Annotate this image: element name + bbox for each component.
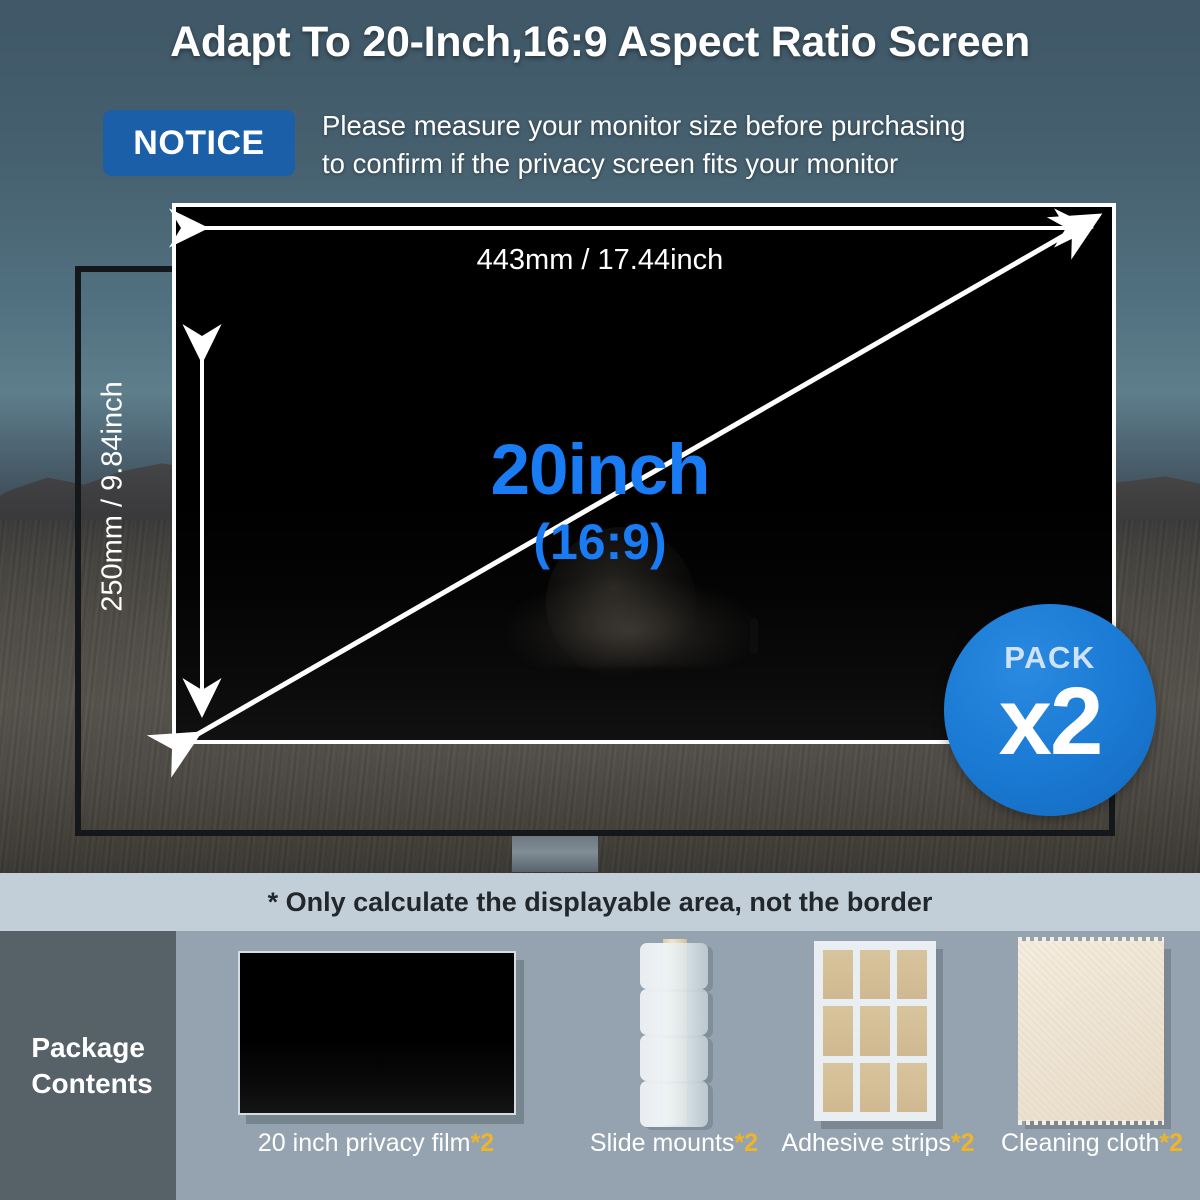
hero-section: Adapt To 20-Inch,16:9 Aspect Ratio Scree…	[0, 0, 1200, 873]
pack-badge-quantity: x2	[944, 674, 1156, 770]
slide-mount-clip	[640, 989, 708, 1035]
aspect-ratio-label: (16:9)	[0, 513, 1200, 571]
adhesive-pad	[860, 950, 890, 999]
notice-badge: NOTICE	[103, 110, 295, 176]
package-heading-line1: Package	[31, 1030, 152, 1066]
screen-person-silhouette	[750, 618, 758, 654]
package-contents-section: Package Contents 20 inch privacy film*2 …	[0, 931, 1200, 1200]
package-contents-heading-panel: Package Contents	[0, 931, 176, 1200]
footnote-text: * Only calculate the displayable area, n…	[268, 887, 933, 918]
notice-text: Please measure your monitor size before …	[322, 107, 1122, 183]
cleaning-cloth-image	[984, 931, 1200, 1131]
adhesive-pad	[897, 1006, 927, 1055]
adhesive-sheet	[814, 941, 936, 1121]
package-item-privacy-film: 20 inch privacy film*2	[176, 931, 576, 1200]
privacy-film-panel	[238, 951, 516, 1115]
adhesive-strips-image	[772, 931, 984, 1131]
package-heading-line2: Contents	[31, 1066, 152, 1102]
slide-mounts-qty: *2	[734, 1129, 758, 1157]
notice-text-line1: Please measure your monitor size before …	[322, 107, 1122, 145]
dimension-width-label: 443mm / 17.44inch	[0, 244, 1200, 277]
cleaning-cloth-swatch	[1018, 941, 1164, 1121]
adhesive-strips-qty: *2	[951, 1129, 975, 1157]
adhesive-strips-label: Adhesive strips*2	[772, 1129, 984, 1158]
screen-size-label: 20inch	[0, 430, 1200, 511]
screen-dust-cloud	[506, 577, 756, 667]
adhesive-pad	[897, 950, 927, 999]
notice-text-line2: to confirm if the privacy screen fits yo…	[322, 145, 1122, 183]
adhesive-pad	[823, 950, 853, 999]
slide-mount-clip	[640, 1035, 708, 1081]
package-item-slide-mounts: Slide mounts*2	[576, 931, 772, 1200]
footnote-strip: * Only calculate the displayable area, n…	[0, 873, 1200, 931]
slide-mount-clip	[640, 943, 708, 989]
adhesive-pad	[897, 1063, 927, 1112]
privacy-film-name: 20 inch privacy film	[258, 1129, 471, 1157]
monitor-stand-neck	[512, 836, 598, 872]
slide-mounts-name: Slide mounts	[590, 1129, 735, 1157]
cleaning-cloth-label: Cleaning cloth*2	[984, 1129, 1200, 1158]
slide-mounts-label: Slide mounts*2	[576, 1129, 772, 1158]
slide-mounts-stack	[640, 939, 708, 1125]
privacy-film-label: 20 inch privacy film*2	[176, 1129, 576, 1158]
package-item-cleaning-cloth: Cleaning cloth*2	[984, 931, 1200, 1200]
page-title: Adapt To 20-Inch,16:9 Aspect Ratio Scree…	[0, 18, 1200, 67]
adhesive-pad	[860, 1063, 890, 1112]
notice-badge-label: NOTICE	[133, 124, 264, 163]
slide-mount-clip	[640, 1081, 708, 1127]
slide-mounts-image	[576, 931, 772, 1131]
package-items-row: 20 inch privacy film*2 Slide mounts*2	[176, 931, 1200, 1200]
pack-quantity-badge: PACK x2	[944, 604, 1156, 816]
cleaning-cloth-name: Cleaning cloth	[1001, 1129, 1159, 1157]
adhesive-pad	[860, 1006, 890, 1055]
package-item-adhesive-strips: Adhesive strips*2	[772, 931, 984, 1200]
adhesive-strips-name: Adhesive strips	[781, 1129, 951, 1157]
adhesive-pad	[823, 1063, 853, 1112]
privacy-film-image	[176, 931, 576, 1131]
cleaning-cloth-qty: *2	[1159, 1129, 1183, 1157]
privacy-film-qty: *2	[470, 1129, 494, 1157]
adhesive-pad	[823, 1006, 853, 1055]
